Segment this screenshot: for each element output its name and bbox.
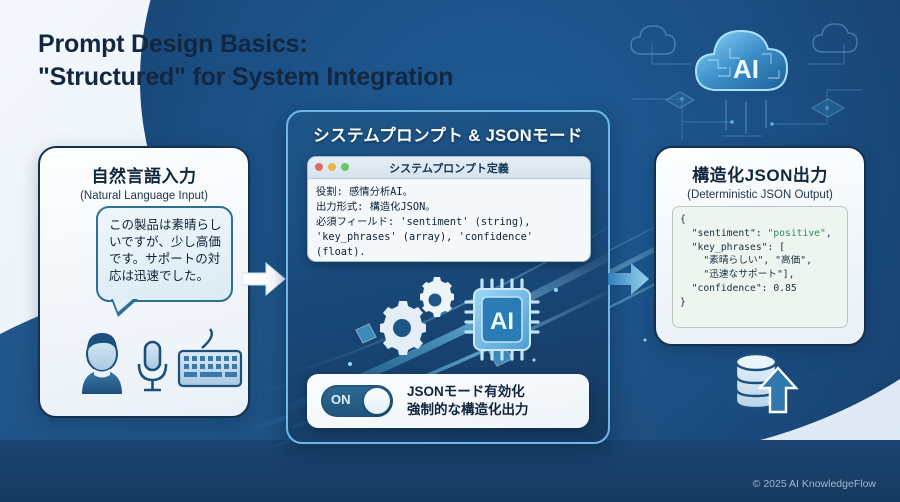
background-bottom-band — [0, 440, 900, 502]
terminal-titlebar: システムプロンプト定義 — [308, 157, 590, 179]
json-line-5: "迅速なサポート"], — [680, 269, 794, 280]
speech-bubble-text: この製品は素晴らしいですが、少し高価です。サポートの対応は迅速でした。 — [109, 218, 222, 283]
json-line-1: { — [680, 214, 686, 225]
panel-title: システムプロンプト & JSONモード — [288, 122, 608, 146]
cpu-chip-icon: AI — [466, 280, 538, 359]
json-mode-toggle-row[interactable]: ON JSONモード有効化 強制的な構造化出力 — [307, 374, 589, 428]
speech-bubble: この製品は素晴らしいですが、少し高価です。サポートの対応は迅速でした。 — [96, 206, 233, 302]
json-line-7: } — [680, 297, 686, 308]
toggle-caption-line2: 強制的な構造化出力 — [407, 401, 529, 419]
terminal-body-text: 役割: 感情分析AI。 出力形式: 構造化JSON。 必須フィールド: 'sen… — [308, 179, 590, 262]
toggle-state-label: ON — [331, 392, 351, 407]
left-card-heading-ja: 自然言語入力 — [40, 162, 248, 187]
natural-language-input-card: 自然言語入力 (Natural Language Input) この製品は素晴ら… — [38, 146, 250, 418]
json-line-6: "confidence": 0.85 — [680, 283, 797, 294]
copyright-footer: © 2025 AI KnowledgeFlow — [753, 478, 876, 490]
json-mode-toggle[interactable]: ON — [321, 385, 393, 417]
ai-cloud-illustration: AI — [622, 4, 872, 154]
json-line-2-value: "positive" — [768, 228, 826, 239]
arrow-process-to-output — [608, 262, 650, 301]
terminal-window-title: システムプロンプト定義 — [308, 160, 590, 176]
toggle-caption: JSONモード有効化 強制的な構造化出力 — [407, 383, 529, 419]
toggle-knob[interactable] — [364, 388, 390, 414]
infographic-canvas: AI Prompt D — [0, 0, 900, 502]
page-title: Prompt Design Basics: "Structured" for S… — [38, 28, 453, 94]
json-output-code: { "sentiment": "positive", "key_phrases"… — [672, 206, 848, 328]
system-prompt-json-panel: システムプロンプト & JSONモード システムプロンプト定義 役割: 感情分析… — [286, 110, 610, 444]
json-line-2-key: "sentiment": — [680, 228, 768, 239]
arrow-input-to-process — [242, 262, 286, 301]
gear-icon — [380, 301, 426, 355]
page-title-line2: "Structured" for System Integration — [38, 61, 453, 94]
cloud-ai-label: AI — [733, 54, 759, 84]
gear-small-icon — [420, 277, 454, 317]
input-icon-row — [40, 324, 248, 402]
chip-label: AI — [490, 308, 514, 335]
page-title-line1: Prompt Design Basics: — [38, 28, 453, 61]
keyboard-icon — [179, 329, 241, 386]
json-line-2-end: , — [826, 228, 832, 239]
database-upload-illustration — [728, 348, 818, 420]
user-avatar-icon — [82, 333, 122, 394]
right-card-heading-ja: 構造化JSON出力 — [656, 161, 864, 186]
json-output-card: 構造化JSON出力 (Deterministic JSON Output) { … — [654, 146, 866, 346]
ai-chip-illustration: AI — [348, 272, 548, 367]
json-line-3: "key_phrases": [ — [680, 242, 785, 253]
system-prompt-terminal: システムプロンプト定義 役割: 感情分析AI。 出力形式: 構造化JSON。 必… — [307, 156, 591, 262]
right-card-heading-en: (Deterministic JSON Output) — [656, 189, 864, 201]
toggle-caption-line1: JSONモード有効化 — [407, 383, 529, 401]
left-card-heading-en: (Natural Language Input) — [40, 190, 248, 202]
microphone-icon — [139, 342, 166, 390]
json-line-4: "素晴らしい", "高価", — [680, 255, 812, 266]
